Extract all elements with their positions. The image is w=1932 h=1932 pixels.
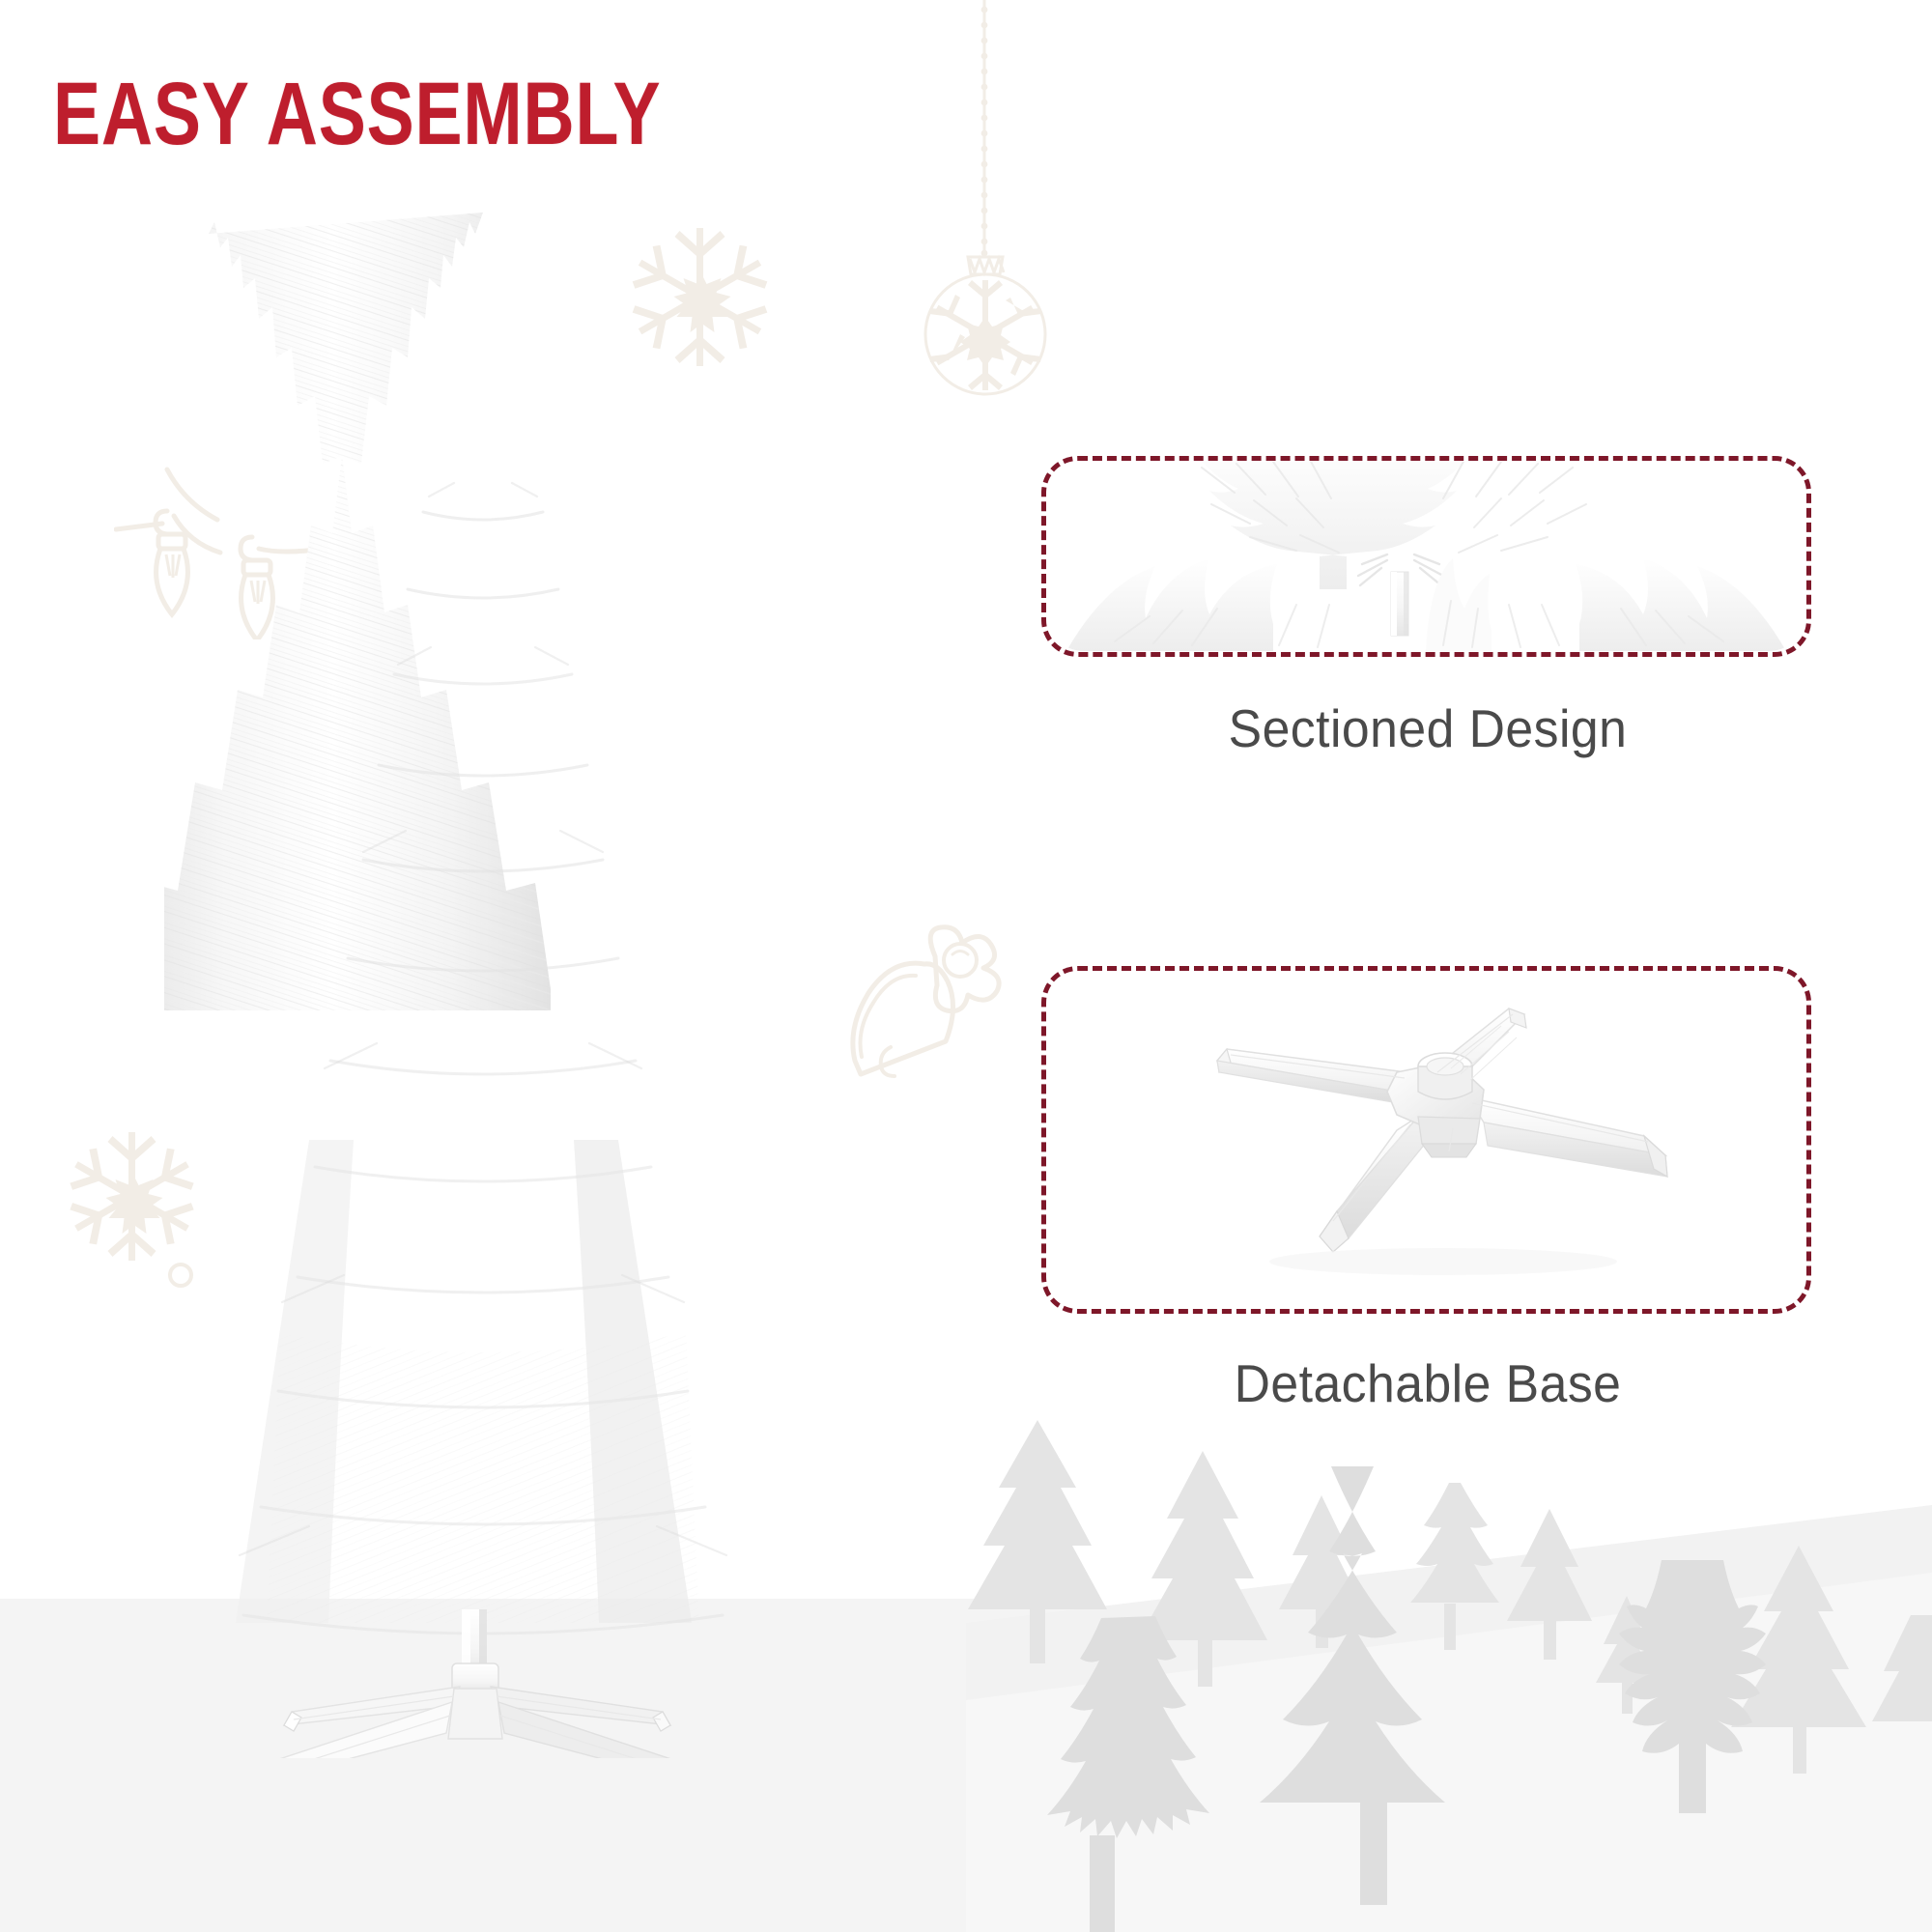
detachable-base-frame <box>1041 966 1811 1314</box>
forest-scene <box>966 1381 1932 1932</box>
feature-callout-sectioned-design: Sectioned Design <box>1041 456 1814 910</box>
tree-foliage <box>164 213 726 1634</box>
product-feature-image: EASY ASSEMBLY <box>0 0 1932 1932</box>
page-title: EASY ASSEMBLY <box>53 70 661 158</box>
product-hero-image <box>164 193 782 1758</box>
tree-stand-base <box>257 1687 694 1758</box>
feature-callout-detachable-base: Detachable Base <box>1041 966 1814 1420</box>
detachable-base-caption: Detachable Base <box>1065 1352 1791 1414</box>
sectioned-design-frame <box>1041 456 1811 657</box>
sectioned-design-caption: Sectioned Design <box>1065 697 1791 759</box>
